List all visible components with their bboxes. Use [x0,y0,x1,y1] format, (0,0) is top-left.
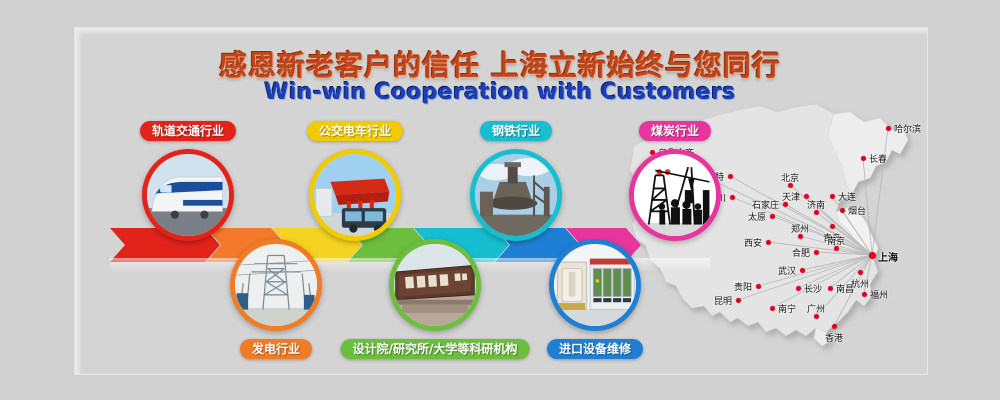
industry-photo-china-pavilion-bus-photo [314,154,396,236]
industry-circle-equipment[interactable] [549,239,641,331]
industry-circle-coal[interactable] [629,149,721,241]
industry-label-coal[interactable]: 煤炭行业 [639,121,711,141]
industry-label-equipment[interactable]: 进口设备维修 [547,339,643,359]
industry-photo-coal-mine-headframe-photo [634,154,716,236]
industry-circle-bus[interactable] [309,149,401,241]
promo-banner: 哈尔滨长春呼和浩特北京天津大连石家庄济南烟台太原青岛银川乌鲁木齐郑州西安合肥南京… [0,0,1000,400]
page-title: 感恩新老客户的信任 上海立新始终与您同行 [0,44,1000,84]
industry-photo-power-substation-photo [235,244,317,326]
industry-label-steel[interactable]: 钢铁行业 [480,121,552,141]
industry-circle-power[interactable] [230,239,322,331]
industry-photo-steel-blast-furnace-photo [475,154,557,236]
industry-photo-high-speed-train-photo [147,154,229,236]
industry-photo-university-sign-photo [394,244,476,326]
industry-label-rail[interactable]: 轨道交通行业 [140,121,236,141]
industry-label-research[interactable]: 设计院/研究所/大学等科研机构 [341,339,530,359]
industry-photo-switchgear-cabinet-photo [554,244,636,326]
industry-label-power[interactable]: 发电行业 [240,339,312,359]
industry-label-bus[interactable]: 公交电车行业 [307,121,403,141]
page-subtitle: Win-win Cooperation with Customers [0,80,1000,105]
industry-circle-rail[interactable] [142,149,234,241]
industry-circle-steel[interactable] [470,149,562,241]
industry-circle-research[interactable] [389,239,481,331]
